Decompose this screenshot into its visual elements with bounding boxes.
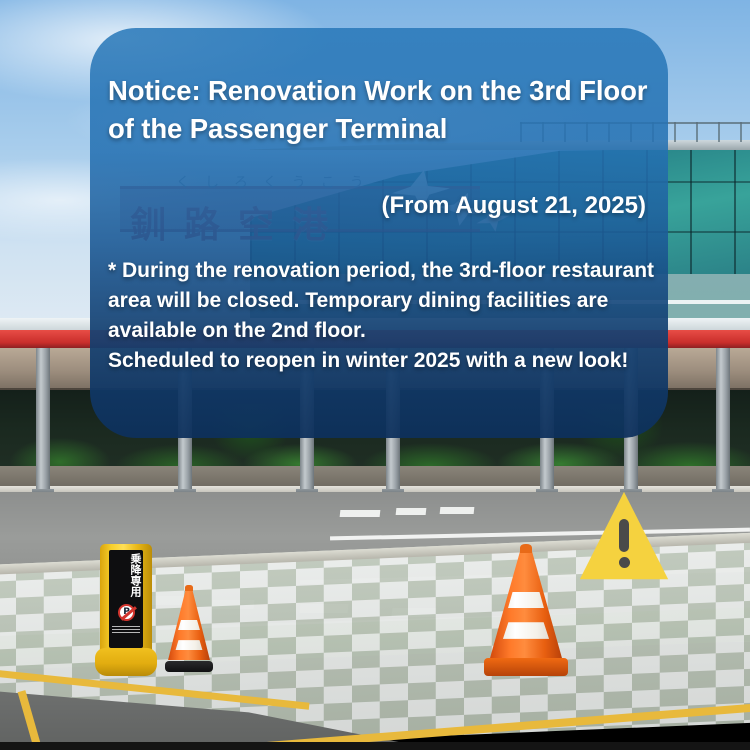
road-text-marking	[396, 508, 427, 515]
no-parking-icon: P	[118, 604, 135, 621]
cone-tip	[185, 585, 193, 591]
road-text-marking	[340, 510, 381, 517]
traffic-cone-large	[490, 548, 562, 676]
exclamation-dot	[619, 557, 630, 568]
notice-graphic: くしろくうこう 釧路空港	[0, 0, 750, 750]
canopy-column	[716, 348, 730, 493]
warning-triangle-icon	[578, 490, 670, 582]
notice-overlay-panel: Notice: Renovation Work on the 3rd Floor…	[90, 28, 668, 438]
cone-reflective-band	[490, 592, 562, 609]
bollard-label-text: 乗降専用	[111, 553, 141, 599]
notice-title: Notice: Renovation Work on the 3rd Floor…	[108, 72, 653, 148]
canopy-column	[36, 348, 50, 493]
cone-reflective-band	[168, 620, 210, 630]
exclamation-bar	[619, 519, 629, 552]
bottom-letterbox-bar	[0, 742, 750, 750]
notice-body: * During the renovation period, the 3rd-…	[108, 256, 656, 376]
cone-base	[165, 661, 214, 672]
boarding-only-bollard-sign: 乗降専用 P	[100, 544, 152, 676]
bollard-sign-panel: 乗降専用 P	[109, 550, 143, 648]
cone-base	[484, 658, 568, 676]
road-text-marking	[440, 507, 475, 514]
notice-body-paragraph-2: Scheduled to reopen in winter 2025 with …	[108, 346, 656, 376]
bollard-sub-label	[112, 626, 140, 633]
notice-effective-date: (From August 21, 2025)	[381, 192, 646, 220]
notice-body-paragraph-1: * During the renovation period, the 3rd-…	[108, 256, 656, 346]
cone-tip	[520, 544, 533, 553]
bollard-base	[95, 648, 157, 676]
traffic-cone-small	[168, 588, 210, 672]
